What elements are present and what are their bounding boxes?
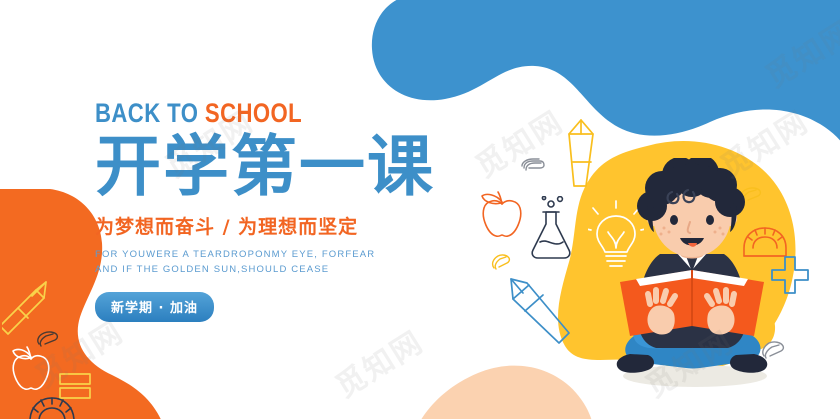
subtitle-english-line2: AND IF THE GOLDEN SUN,SHOULD CEASE xyxy=(95,263,495,278)
poster-canvas: BACK TO SCHOOL 开学第一课 为梦想而奋斗 / 为理想而坚定 FOR… xyxy=(0,0,840,419)
paperclip-icon xyxy=(36,330,60,348)
pencil-icon xyxy=(505,275,575,347)
flask-icon xyxy=(527,196,575,260)
protractor-icon xyxy=(28,396,76,419)
page-title: 开学第一课 xyxy=(95,133,495,200)
subtitle-english: FOR YOUWERE A TEARDROPONMY EYE, FORFEAR … xyxy=(95,248,495,277)
paperclip-icon xyxy=(521,158,545,174)
pencil-icon xyxy=(562,118,600,190)
eyebrow-back-to: BACK TO xyxy=(95,98,205,128)
headline-block: BACK TO SCHOOL 开学第一课 为梦想而奋斗 / 为理想而坚定 FOR… xyxy=(95,100,495,322)
peach-blob-shape xyxy=(300,349,600,419)
watermark: 觅知网 xyxy=(326,318,431,406)
boy-reading-book-illustration xyxy=(600,158,785,390)
eyebrow-school: SCHOOL xyxy=(205,98,302,128)
pencil-icon xyxy=(2,280,50,336)
status-badge[interactable]: 新学期 · 加油 xyxy=(95,292,214,322)
subtitle-english-line1: FOR YOUWERE A TEARDROPONMY EYE, FORFEAR xyxy=(95,248,495,263)
watermark: 觅知网 xyxy=(756,8,840,96)
subtitle-chinese: 为梦想而奋斗 / 为理想而坚定 xyxy=(95,212,495,239)
apple-icon xyxy=(8,345,54,393)
books-icon xyxy=(58,372,92,402)
eyebrow-text: BACK TO SCHOOL xyxy=(95,100,423,127)
